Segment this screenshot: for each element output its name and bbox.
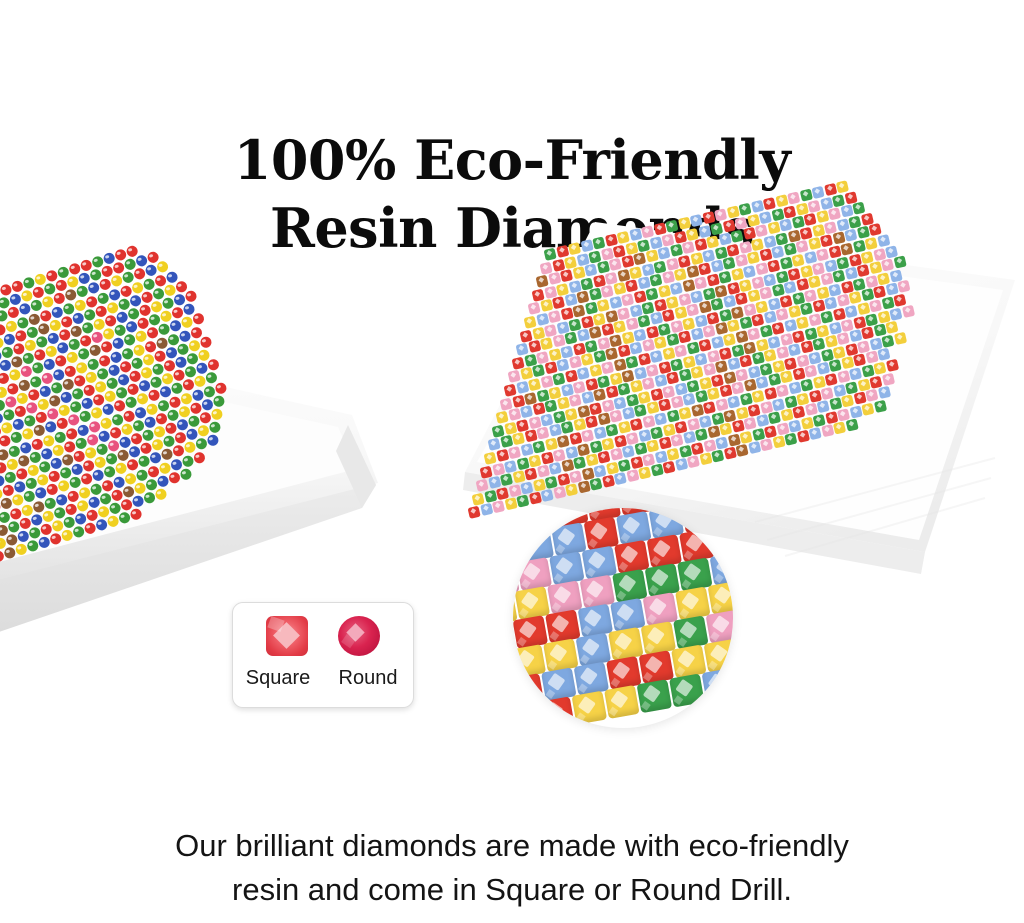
drill-bead xyxy=(634,404,647,417)
drill-bead xyxy=(573,456,586,469)
drill-bead xyxy=(760,439,773,452)
drill-bead xyxy=(633,252,646,265)
drill-bead xyxy=(610,448,623,461)
drill-bead xyxy=(532,402,545,415)
drill-bead xyxy=(192,312,206,326)
drill-bead xyxy=(706,236,719,249)
drill-bead xyxy=(569,432,582,445)
drill-bead xyxy=(707,387,720,400)
drill-bead xyxy=(865,389,878,402)
drill-bead xyxy=(605,348,618,361)
drill-bead xyxy=(657,247,670,260)
drill-bead xyxy=(795,240,808,253)
drill-bead xyxy=(691,404,704,417)
drill-bead xyxy=(605,386,618,399)
drill-bead xyxy=(804,251,817,264)
drill-bead xyxy=(602,475,615,488)
drill-bead xyxy=(630,380,643,393)
drill-bead xyxy=(532,440,545,453)
drill-bead xyxy=(714,208,727,221)
drill-bead xyxy=(771,322,784,335)
drill-bead xyxy=(723,333,736,346)
drill-bead xyxy=(674,306,687,319)
drill-bead xyxy=(609,410,622,423)
drill-bead xyxy=(857,302,870,315)
drill-bead xyxy=(816,362,829,375)
drill-bead xyxy=(540,299,553,312)
drill-bead xyxy=(703,363,716,376)
drill-bead xyxy=(845,305,858,318)
drill-bead xyxy=(809,427,822,440)
drill-bead xyxy=(622,407,635,420)
drill-bead xyxy=(520,367,533,380)
drill-bead xyxy=(690,366,703,379)
drill-bead xyxy=(727,319,740,332)
drill-bead xyxy=(718,271,731,284)
drill-bead xyxy=(480,503,493,516)
drill-bead xyxy=(662,347,675,360)
drill-bead xyxy=(727,395,740,408)
magnified-drill xyxy=(539,696,575,728)
drill-bead xyxy=(893,256,906,269)
drill-bead xyxy=(625,356,638,369)
drill-bead xyxy=(787,191,800,204)
drill-bead xyxy=(556,359,569,372)
drill-bead xyxy=(715,398,728,411)
drill-bead xyxy=(711,336,724,349)
drill-bead xyxy=(812,300,825,313)
drill-bead xyxy=(901,304,914,317)
drill-bead xyxy=(837,370,850,383)
drill-bead xyxy=(642,377,655,390)
drill-bead xyxy=(788,343,801,356)
drill-bead xyxy=(646,440,659,453)
drill-bead xyxy=(865,237,878,250)
drill-bead xyxy=(735,254,748,267)
drill-bead xyxy=(552,296,565,309)
drill-bead xyxy=(577,481,590,494)
drill-bead xyxy=(824,297,837,310)
drill-bead xyxy=(641,225,654,238)
drill-bead xyxy=(893,332,906,345)
drill-bead xyxy=(869,299,882,312)
drill-bead xyxy=(577,367,590,380)
drill-bead xyxy=(723,295,736,308)
drill-bead xyxy=(585,454,598,467)
drill-bead xyxy=(841,395,854,408)
drill-bead xyxy=(841,357,854,370)
drill-bead xyxy=(735,292,748,305)
drill-bead xyxy=(763,311,776,324)
drill-bead xyxy=(792,368,805,381)
drill-bead xyxy=(877,234,890,247)
drill-bead xyxy=(707,425,720,438)
drill-bead xyxy=(682,279,695,292)
drill-bead xyxy=(775,194,788,207)
drill-bead xyxy=(658,399,671,412)
drill-bead xyxy=(516,495,529,508)
drill-bead xyxy=(812,376,825,389)
drill-bead xyxy=(780,371,793,384)
drill-bead xyxy=(710,260,723,273)
drill-bead xyxy=(751,200,764,213)
drill-bead xyxy=(604,234,617,247)
magnified-drill xyxy=(604,685,640,719)
drill-bead xyxy=(653,222,666,235)
drill-bead xyxy=(877,348,890,361)
drill-bead xyxy=(581,429,594,442)
drill-bead xyxy=(576,329,589,342)
drill-bead xyxy=(849,329,862,342)
drill-bead xyxy=(557,435,570,448)
drill-bead xyxy=(873,362,886,375)
page-caption: Our brilliant diamonds are made with eco… xyxy=(0,780,1024,923)
drill-bead xyxy=(524,316,537,329)
drill-bead xyxy=(687,455,700,468)
drill-bead xyxy=(212,394,226,408)
drill-bead xyxy=(817,400,830,413)
drill-bead xyxy=(678,369,691,382)
drill-bead xyxy=(759,325,772,338)
magnified-drill xyxy=(669,673,705,707)
drill-bead xyxy=(528,378,541,391)
drill-bead xyxy=(885,321,898,334)
drill-bead xyxy=(759,249,772,262)
headline-line-1: 100% Eco-Friendly xyxy=(234,128,790,192)
drill-bead xyxy=(702,211,715,224)
drill-bead xyxy=(618,421,631,434)
drill-bead xyxy=(824,335,837,348)
drill-bead xyxy=(869,223,882,236)
drill-bead xyxy=(695,390,708,403)
drill-bead xyxy=(508,446,521,459)
drill-bead xyxy=(731,420,744,433)
drill-bead xyxy=(629,342,642,355)
drill-bead xyxy=(560,269,573,282)
drill-bead xyxy=(816,248,829,261)
drill-bead xyxy=(832,270,845,283)
drill-bead xyxy=(593,426,606,439)
drill-bead xyxy=(788,305,801,318)
drill-bead xyxy=(544,400,557,413)
drill-bead xyxy=(207,358,221,372)
drill-bead xyxy=(561,459,574,472)
round-label: Round xyxy=(332,667,404,690)
drill-bead xyxy=(776,384,789,397)
drill-bead xyxy=(670,434,683,447)
drill-bead xyxy=(609,258,622,271)
drill-bead xyxy=(698,301,711,314)
drill-bead xyxy=(621,255,634,268)
drill-shape-legend[interactable]: Square Round xyxy=(232,602,414,708)
drill-bead xyxy=(637,315,650,328)
drill-bead xyxy=(614,472,627,485)
drill-bead xyxy=(129,508,143,522)
drill-bead xyxy=(726,206,739,219)
drill-bead xyxy=(719,385,732,398)
drill-bead xyxy=(747,289,760,302)
drill-bead xyxy=(739,393,752,406)
drill-bead xyxy=(617,345,630,358)
drill-bead xyxy=(764,387,777,400)
drill-bead xyxy=(597,299,610,312)
drill-bead xyxy=(897,280,910,293)
drill-bead xyxy=(552,372,565,385)
drill-bead xyxy=(569,394,582,407)
drill-bead xyxy=(821,425,834,438)
drill-bead xyxy=(808,237,821,250)
drill-bead xyxy=(775,308,788,321)
drill-bead xyxy=(520,405,533,418)
drill-bead xyxy=(731,268,744,281)
drill-bead xyxy=(654,374,667,387)
drill-bead xyxy=(816,210,829,223)
drill-bead xyxy=(735,330,748,343)
drill-bead xyxy=(784,319,797,332)
magnified-drill xyxy=(712,523,733,557)
drill-bead xyxy=(184,289,198,303)
drill-bead xyxy=(803,213,816,226)
drill-bead xyxy=(638,353,651,366)
drill-bead xyxy=(666,372,679,385)
drill-bead xyxy=(597,451,610,464)
drill-bead xyxy=(763,349,776,362)
drill-bead xyxy=(889,307,902,320)
drill-bead xyxy=(154,487,168,501)
drill-bead xyxy=(861,403,874,416)
drill-bead xyxy=(829,359,842,372)
drill-bead xyxy=(739,317,752,330)
drill-bead xyxy=(748,441,761,454)
drill-bead xyxy=(496,449,509,462)
drill-bead xyxy=(654,336,667,349)
drill-bead xyxy=(763,197,776,210)
drill-bead xyxy=(828,207,841,220)
drill-bead xyxy=(670,282,683,295)
drill-bead xyxy=(528,492,541,505)
drill-bead xyxy=(885,359,898,372)
drill-bead xyxy=(808,275,821,288)
drill-bead xyxy=(702,325,715,338)
drill-bead xyxy=(800,303,813,316)
drill-bead xyxy=(576,291,589,304)
drill-bead xyxy=(772,436,785,449)
drill-bead xyxy=(528,340,541,353)
drill-bead xyxy=(881,297,894,310)
drill-bead xyxy=(706,274,719,287)
drill-bead xyxy=(767,221,780,234)
drill-bead xyxy=(784,433,797,446)
caption-line-2: resin and come in Square or Round Drill. xyxy=(0,868,1024,912)
drill-bead xyxy=(832,308,845,321)
drill-bead xyxy=(727,357,740,370)
drill-bead xyxy=(592,236,605,249)
drill-bead xyxy=(580,239,593,252)
drill-bead xyxy=(820,311,833,324)
drill-bead xyxy=(885,283,898,296)
drill-bead xyxy=(694,238,707,251)
drill-bead xyxy=(840,243,853,256)
drill-bead xyxy=(811,186,824,199)
drill-bead xyxy=(508,370,521,383)
drill-bead xyxy=(597,413,610,426)
drill-bead xyxy=(738,203,751,216)
drill-bead xyxy=(642,339,655,352)
drill-bead xyxy=(759,287,772,300)
drill-bead xyxy=(666,410,679,423)
drill-bead xyxy=(536,465,549,478)
drill-bead xyxy=(613,282,626,295)
drill-bead xyxy=(541,489,554,502)
drill-bead xyxy=(593,350,606,363)
legend-labels: Square Round xyxy=(233,667,413,690)
drill-bead xyxy=(568,242,581,255)
drill-bead xyxy=(779,257,792,270)
drill-bead xyxy=(633,290,646,303)
drill-bead xyxy=(622,445,635,458)
drill-bead xyxy=(626,470,639,483)
drill-bead xyxy=(544,438,557,451)
caption-line-1: Our brilliant diamonds are made with eco… xyxy=(175,828,849,863)
drill-bead xyxy=(516,343,529,356)
drill-bead xyxy=(658,285,671,298)
drill-bead xyxy=(645,250,658,263)
drill-bead xyxy=(665,220,678,233)
drill-bead xyxy=(718,233,731,246)
drill-bead xyxy=(792,406,805,419)
magnified-drill xyxy=(710,552,733,586)
drill-bead xyxy=(711,450,724,463)
drill-bead xyxy=(638,467,651,480)
drill-bead xyxy=(703,401,716,414)
drill-bead xyxy=(751,390,764,403)
drill-bead xyxy=(783,281,796,294)
drill-bead xyxy=(768,411,781,424)
drill-bead xyxy=(881,335,894,348)
drill-bead xyxy=(609,296,622,309)
drill-bead xyxy=(589,364,602,377)
drill-bead xyxy=(829,397,842,410)
drill-bead xyxy=(500,473,513,486)
drill-bead xyxy=(634,442,647,455)
drill-bead xyxy=(710,298,723,311)
drill-bead xyxy=(731,382,744,395)
drill-bead xyxy=(629,228,642,241)
drill-bead xyxy=(674,344,687,357)
drill-bead xyxy=(630,418,643,431)
drill-bead xyxy=(617,231,630,244)
drill-bead xyxy=(504,384,517,397)
drill-bead xyxy=(683,431,696,444)
drill-bead xyxy=(690,328,703,341)
drill-bead xyxy=(625,318,638,331)
drill-bead xyxy=(678,407,691,420)
drill-bead xyxy=(650,312,663,325)
drill-bead xyxy=(560,307,573,320)
drill-bead xyxy=(564,370,577,383)
drill-bead xyxy=(849,291,862,304)
drill-bead xyxy=(796,278,809,291)
drill-bead xyxy=(589,478,602,491)
drill-bead xyxy=(776,346,789,359)
drill-bead xyxy=(869,261,882,274)
drill-bead xyxy=(524,430,537,443)
drill-bead xyxy=(544,248,557,261)
drill-bead xyxy=(544,362,557,375)
drill-bead xyxy=(715,322,728,335)
drill-bead xyxy=(698,339,711,352)
drill-bead xyxy=(783,243,796,256)
drill-bead xyxy=(836,294,849,307)
drill-bead xyxy=(699,453,712,466)
drill-bead xyxy=(796,430,809,443)
magnified-drill xyxy=(637,679,673,713)
drill-bead xyxy=(799,189,812,202)
drill-bead xyxy=(675,458,688,471)
drill-bead xyxy=(686,304,699,317)
zoom-inset-circle xyxy=(513,508,733,728)
drill-bead xyxy=(500,435,513,448)
drill-bead xyxy=(873,400,886,413)
drill-bead xyxy=(852,240,865,253)
drill-bead xyxy=(824,183,837,196)
drill-bead xyxy=(658,437,671,450)
drill-bead xyxy=(564,332,577,345)
drill-bead xyxy=(601,361,614,374)
drill-bead xyxy=(637,277,650,290)
drill-bead xyxy=(572,266,585,279)
drill-bead xyxy=(565,484,578,497)
drill-bead xyxy=(488,476,501,489)
drill-bead xyxy=(650,350,663,363)
drill-bead xyxy=(512,432,525,445)
drill-bead xyxy=(756,414,769,427)
drill-bead xyxy=(833,422,846,435)
drill-bead xyxy=(601,323,614,336)
drill-bead xyxy=(861,327,874,340)
drill-bead xyxy=(780,409,793,422)
drill-bead xyxy=(686,266,699,279)
drill-bead xyxy=(682,241,695,254)
magnified-drill xyxy=(513,702,542,728)
drill-bead xyxy=(694,276,707,289)
drill-bead xyxy=(540,375,553,388)
drill-bead xyxy=(836,180,849,193)
drill-bead xyxy=(767,259,780,272)
drill-bead xyxy=(849,367,862,380)
magnified-drill xyxy=(708,581,733,615)
drill-bead xyxy=(573,418,586,431)
drill-bead xyxy=(564,294,577,307)
drill-bead xyxy=(540,337,553,350)
drill-bead xyxy=(585,416,598,429)
square-label: Square xyxy=(242,667,314,690)
drill-bead xyxy=(206,434,220,448)
drill-bead xyxy=(865,351,878,364)
drill-bead xyxy=(751,314,764,327)
drill-bead xyxy=(581,391,594,404)
drill-bead xyxy=(532,364,545,377)
drill-bead xyxy=(853,354,866,367)
drill-bead xyxy=(820,235,833,248)
drill-bead xyxy=(808,313,821,326)
drill-bead xyxy=(516,381,529,394)
drill-bead xyxy=(743,379,756,392)
drill-bead xyxy=(678,331,691,344)
drill-bead xyxy=(584,302,597,315)
drill-bead xyxy=(695,428,708,441)
drill-bead xyxy=(755,376,768,389)
